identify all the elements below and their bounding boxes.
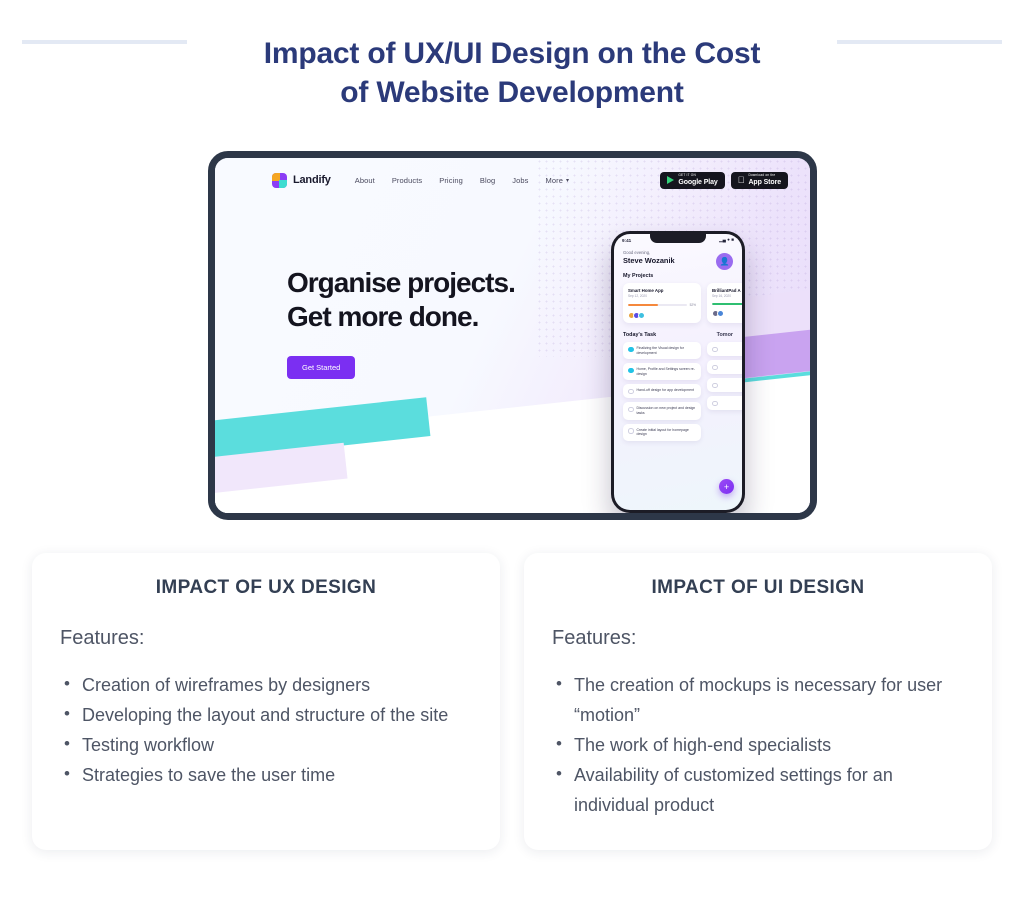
checkbox-icon[interactable]: [712, 383, 718, 389]
brand-logo[interactable]: Landify: [272, 173, 331, 188]
app-store-badge-small: Download on the: [748, 174, 781, 177]
task-item[interactable]: [707, 396, 742, 410]
checkbox-icon[interactable]: [628, 389, 634, 395]
ux-design-card: IMPACT OF UX DESIGN Features: Creation o…: [32, 553, 500, 850]
tasks-title-tomorrow: Tomor: [717, 332, 733, 338]
chevron-down-icon: ▾: [566, 177, 569, 184]
add-task-button[interactable]: +: [719, 479, 734, 494]
project-avatars: [712, 310, 742, 317]
task-item[interactable]: [707, 342, 742, 356]
nav-link-jobs[interactable]: Jobs: [512, 176, 528, 185]
task-item[interactable]: Hand-off design for app development: [623, 384, 701, 398]
page-title: Impact of UX/UI Design on the Cost of We…: [192, 34, 832, 112]
avatar: [717, 310, 724, 317]
mockup-canvas: Landify About Products Pricing Blog Jobs…: [215, 158, 810, 513]
task-item[interactable]: [707, 378, 742, 392]
ui-feature-list: The creation of mockups is necessary for…: [552, 670, 964, 820]
project-progress-bar: [712, 303, 742, 305]
list-item: Developing the layout and structure of t…: [60, 700, 472, 730]
ux-feature-list: Creation of wireframes by designers Deve…: [60, 670, 472, 790]
task-item[interactable]: Finalizing the Visual design for develop…: [623, 342, 701, 359]
list-item: The creation of mockups is necessary for…: [552, 670, 964, 730]
project-card[interactable]: Smart Home App Sep 12, 2020 52%: [623, 283, 701, 323]
landify-logo-icon: [272, 173, 287, 188]
project-avatars: [628, 312, 696, 319]
title-rule-left: [22, 40, 187, 44]
avatar: [638, 312, 645, 319]
ui-design-card: IMPACT OF UI DESIGN Features: The creati…: [524, 553, 992, 850]
website-mockup: Landify About Products Pricing Blog Jobs…: [208, 151, 817, 520]
tasks-title-today: Today's Task: [623, 332, 656, 338]
info-cards: IMPACT OF UX DESIGN Features: Creation o…: [32, 553, 992, 850]
check-icon[interactable]: [628, 347, 634, 353]
signal-wifi-battery-icon: ▁▄ ● ■: [719, 237, 734, 243]
project-name: Smart Home App: [628, 288, 696, 293]
ux-card-subheading: Features:: [60, 627, 472, 650]
google-play-badge-small: GET IT ON: [678, 174, 717, 177]
checkbox-icon[interactable]: [712, 347, 718, 353]
task-text: Discussion on new project and design tas…: [637, 406, 698, 415]
check-icon[interactable]: [628, 368, 634, 374]
project-card[interactable]: BrilliantPad A Sep 16, 2020: [707, 283, 742, 323]
tasks-header: Today's Task Tomor: [623, 332, 733, 338]
ui-card-heading: IMPACT OF UI DESIGN: [552, 577, 964, 599]
status-time: 9:41: [622, 238, 631, 243]
task-item[interactable]: Discussion on new project and design tas…: [623, 402, 701, 419]
nav-link-blog[interactable]: Blog: [480, 176, 495, 185]
task-column-tomorrow: [707, 342, 742, 445]
nav-more-label: More: [546, 176, 564, 185]
checkbox-icon[interactable]: [628, 428, 634, 434]
brand-name: Landify: [293, 174, 331, 186]
page-header: Impact of UX/UI Design on the Cost of We…: [0, 0, 1024, 112]
list-item: Availability of customized settings for …: [552, 760, 964, 820]
task-text: Create initial layout for homepage desig…: [637, 428, 698, 437]
hero-headline-line-2: Get more done.: [287, 301, 478, 332]
page-title-line-1: Impact of UX/UI Design on the Cost: [264, 37, 761, 70]
checkbox-icon[interactable]: [628, 407, 634, 413]
google-play-badge[interactable]: GET IT ON Google Play: [660, 172, 724, 189]
checkbox-icon[interactable]: [712, 401, 718, 407]
app-store-badge[interactable]:  Download on the App Store: [731, 172, 788, 189]
get-started-button[interactable]: Get Started: [287, 356, 355, 379]
hero-headline-line-1: Organise projects.: [287, 267, 515, 298]
task-text: Home, Profile and Settings screen re-des…: [637, 367, 698, 376]
phone-mockup: 9:41 ▁▄ ● ■ Good evening, Steve Wozanik …: [611, 231, 745, 513]
list-item: Testing workflow: [60, 730, 472, 760]
task-item[interactable]: [707, 360, 742, 374]
checkbox-icon[interactable]: [712, 365, 718, 371]
nav-link-pricing[interactable]: Pricing: [439, 176, 463, 185]
apple-icon: : [738, 176, 745, 185]
nav-link-about[interactable]: About: [355, 176, 375, 185]
project-date: Sep 12, 2020: [628, 294, 696, 298]
task-item[interactable]: Create initial layout for homepage desig…: [623, 424, 701, 441]
nav-link-more[interactable]: More ▾: [546, 176, 570, 185]
hero-headline: Organise projects. Get more done.: [287, 266, 515, 334]
list-item: Strategies to save the user time: [60, 760, 472, 790]
project-name: BrilliantPad A: [712, 288, 742, 293]
list-item: The work of high-end specialists: [552, 730, 964, 760]
phone-notch: [650, 234, 706, 243]
project-progress-label: 52%: [690, 303, 696, 307]
project-date: Sep 16, 2020: [712, 294, 742, 298]
phone-screen: 9:41 ▁▄ ● ■ Good evening, Steve Wozanik …: [614, 234, 742, 510]
user-avatar[interactable]: 👤: [716, 253, 733, 270]
ui-card-subheading: Features:: [552, 627, 964, 650]
title-rule-right: [837, 40, 1002, 44]
app-store-badge-label: App Store: [748, 179, 781, 186]
task-text: Hand-off design for app development: [637, 388, 695, 393]
project-progress-bar: [628, 304, 687, 306]
page-title-line-2: of Website Development: [340, 76, 683, 109]
hero-section: Organise projects. Get more done. Get St…: [287, 266, 515, 379]
mockup-navbar: Landify About Products Pricing Blog Jobs…: [215, 158, 810, 202]
ux-card-heading: IMPACT OF UX DESIGN: [60, 577, 472, 599]
device-frame: Landify About Products Pricing Blog Jobs…: [208, 151, 817, 520]
task-columns: Finalizing the Visual design for develop…: [623, 342, 733, 445]
google-play-badge-label: Google Play: [678, 179, 717, 186]
nav-links: About Products Pricing Blog Jobs More ▾: [355, 176, 569, 185]
projects-row: Smart Home App Sep 12, 2020 52%: [623, 283, 733, 323]
google-play-icon: [667, 176, 674, 184]
task-column-today: Finalizing the Visual design for develop…: [623, 342, 701, 445]
phone-content: Good evening, Steve Wozanik 👤 My Project…: [614, 243, 742, 445]
projects-section-title: My Projects: [623, 273, 733, 279]
greeting-text: Good evening,: [623, 250, 733, 255]
nav-link-products[interactable]: Products: [392, 176, 422, 185]
task-text: Finalizing the Visual design for develop…: [637, 346, 698, 355]
task-item[interactable]: Home, Profile and Settings screen re-des…: [623, 363, 701, 380]
list-item: Creation of wireframes by designers: [60, 670, 472, 700]
store-badges: GET IT ON Google Play  Download on the …: [660, 172, 788, 189]
